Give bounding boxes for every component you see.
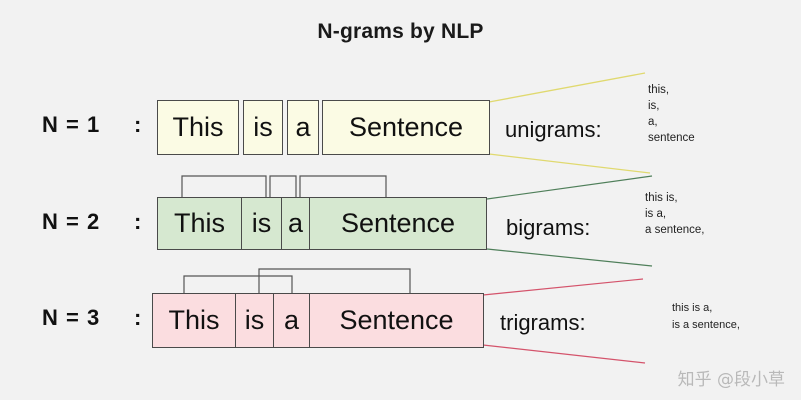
- gram-item: sentence: [648, 130, 695, 146]
- row-label-n1: N = 1: [42, 112, 100, 138]
- bigram-bracket-this-is: [182, 176, 266, 197]
- word-box[interactable]: is: [241, 197, 282, 250]
- trigram-bracket-is-a-sentence: [259, 269, 410, 293]
- gram-label-bigrams: bigrams:: [506, 215, 590, 241]
- page-title: N-grams by NLP: [0, 20, 801, 44]
- gram-item: a sentence,: [645, 222, 704, 238]
- word-box[interactable]: Sentence: [309, 293, 484, 348]
- gram-label-unigrams: unigrams:: [505, 117, 602, 143]
- word-box[interactable]: This: [152, 293, 236, 348]
- gram-item: is a,: [645, 206, 704, 222]
- gram-label-trigrams: trigrams:: [500, 310, 586, 336]
- gram-item: is,: [648, 98, 695, 114]
- diagram-canvas: N-grams by NLP N = 1 : This is a Sentenc…: [0, 0, 801, 400]
- gram-list-unigrams: this, is, a, sentence: [648, 82, 695, 146]
- word-box[interactable]: Sentence: [322, 100, 490, 155]
- word-box[interactable]: a: [287, 100, 319, 155]
- gram-item: a,: [648, 114, 695, 130]
- row-colon-n3: :: [134, 305, 141, 331]
- word-box[interactable]: This: [157, 197, 242, 250]
- row-colon-n2: :: [134, 209, 141, 235]
- row-label-n3: N = 3: [42, 305, 100, 331]
- trigram-connector-lower: [483, 345, 645, 363]
- word-box[interactable]: a: [281, 197, 310, 250]
- row-label-n2: N = 2: [42, 209, 100, 235]
- gram-list-bigrams: this is, is a, a sentence,: [645, 190, 704, 238]
- gram-item: this,: [648, 82, 695, 98]
- word-box[interactable]: This: [157, 100, 239, 155]
- watermark: 知乎 @段小草: [678, 365, 785, 390]
- word-box[interactable]: a: [273, 293, 310, 348]
- gram-item: this is,: [645, 190, 704, 206]
- gram-item: is a sentence,: [672, 317, 740, 334]
- gram-list-trigrams: this is a, is a sentence,: [672, 300, 740, 334]
- trigram-connector-upper: [483, 279, 643, 295]
- unigram-connector-lower: [489, 154, 650, 173]
- bigram-bracket-is-a: [270, 176, 296, 197]
- word-box[interactable]: is: [243, 100, 283, 155]
- word-box[interactable]: Sentence: [309, 197, 487, 250]
- bigram-connector-lower: [487, 249, 652, 266]
- trigram-bracket-this-is-a: [184, 276, 292, 293]
- row-colon-n1: :: [134, 112, 141, 138]
- word-box[interactable]: is: [235, 293, 274, 348]
- unigram-connector-upper: [489, 73, 645, 102]
- bigram-connector-upper: [487, 176, 652, 199]
- gram-item: this is a,: [672, 300, 740, 317]
- bigram-bracket-a-sentence: [300, 176, 386, 197]
